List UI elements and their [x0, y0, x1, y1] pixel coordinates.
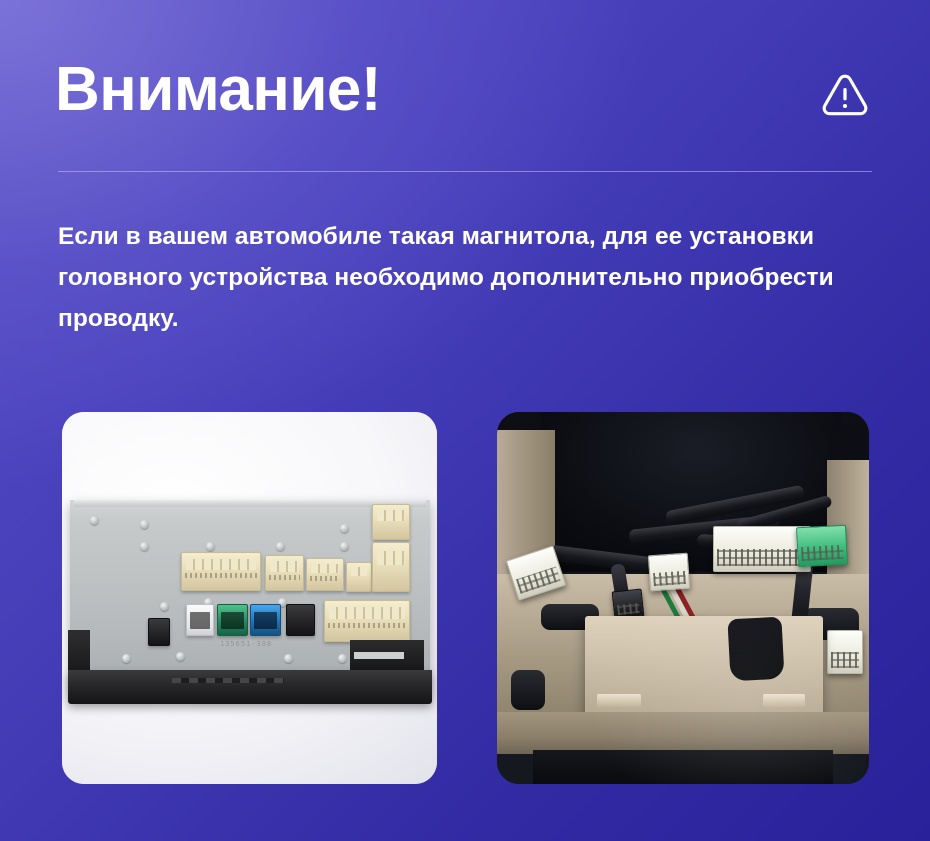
warning-triangle-icon — [818, 68, 872, 122]
wiring-harness-photo[interactable] — [497, 412, 869, 784]
header-divider — [58, 171, 872, 172]
head-unit-rear-photo[interactable]: 135651-388 — [62, 412, 437, 784]
warning-banner: Внимание! Если в вашем автомобиле такая … — [0, 0, 930, 841]
page-title: Внимание! — [55, 54, 381, 126]
banner-header: Внимание! — [0, 0, 930, 172]
photo-gallery: 135651-388 — [62, 412, 869, 784]
description-text: Если в вашем автомобиле такая магнитола,… — [58, 216, 882, 339]
wiring-harness-image — [497, 412, 869, 784]
head-unit-rear-image: 135651-388 — [62, 412, 437, 784]
